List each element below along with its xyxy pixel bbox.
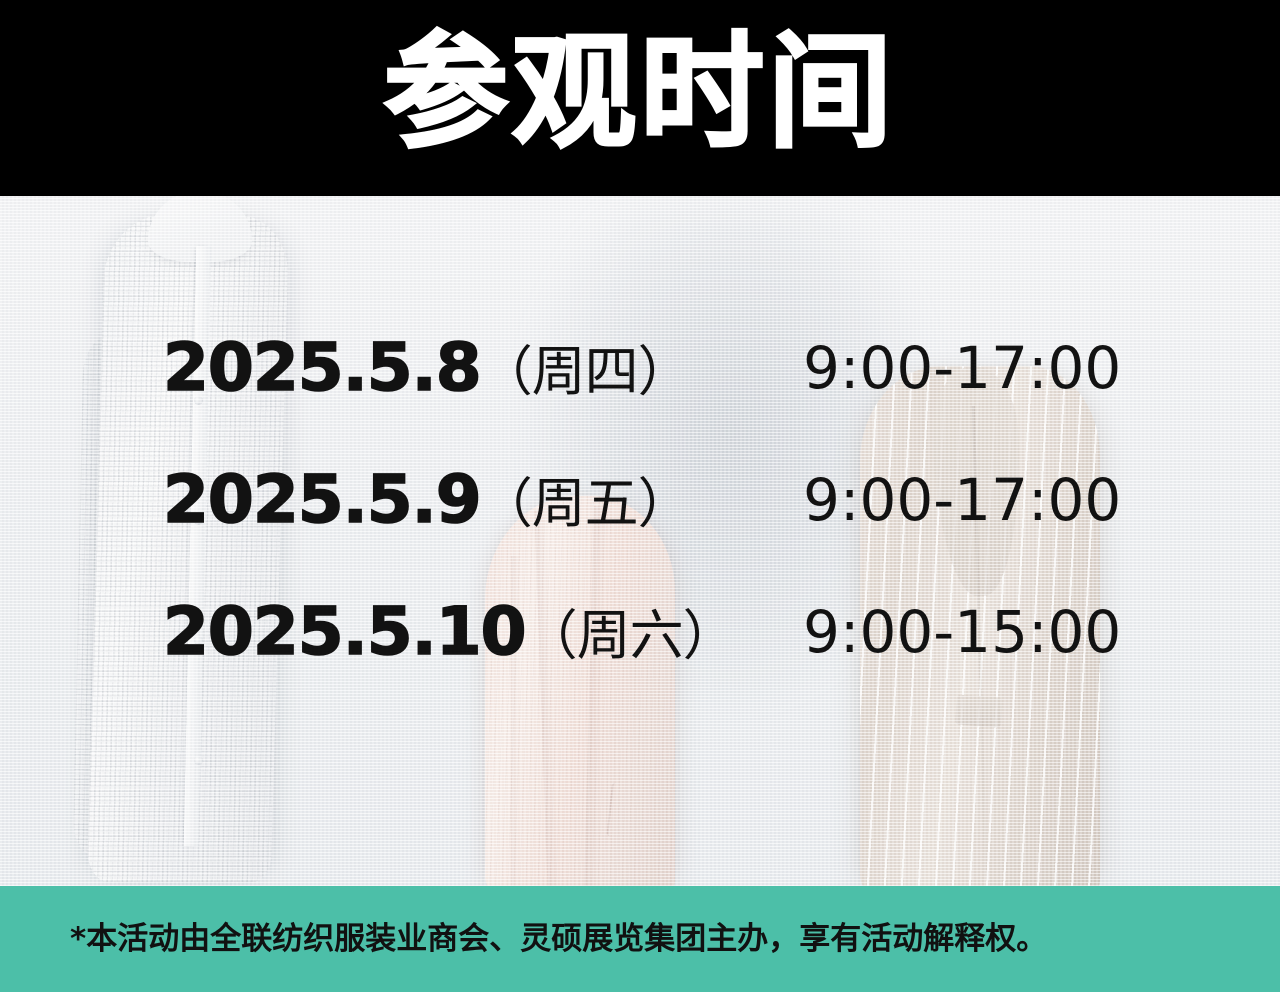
- schedule-row: 2025.5.8 （周四） 9:00-17:00: [0, 322, 1280, 414]
- page-title: 参观时间: [0, 18, 1280, 168]
- footer-disclaimer: *本活动由全联纺织服装业商会、灵硕展览集团主办，享有活动解释权。: [70, 924, 1047, 955]
- schedule-list: 2025.5.8 （周四） 9:00-17:00 2025.5.9 （周五） 9…: [0, 196, 1280, 886]
- schedule-date: 2025.5.8: [163, 335, 481, 401]
- schedule-weekday: （周五）: [479, 477, 691, 531]
- schedule-time: 9:00-17:00: [803, 339, 1121, 397]
- schedule-date-cell: 2025.5.9 （周五）: [163, 467, 691, 533]
- schedule-row: 2025.5.10 （周六） 9:00-15:00: [0, 586, 1280, 678]
- header-bar: 参观时间: [0, 0, 1280, 196]
- schedule-time: 9:00-15:00: [803, 603, 1121, 661]
- schedule-date-cell: 2025.5.8 （周四）: [163, 335, 691, 401]
- schedule-date: 2025.5.10: [163, 599, 526, 665]
- footer-bar: *本活动由全联纺织服装业商会、灵硕展览集团主办，享有活动解释权。: [0, 886, 1280, 992]
- schedule-date-cell: 2025.5.10 （周六）: [163, 599, 736, 665]
- schedule-date: 2025.5.9: [163, 467, 481, 533]
- schedule-weekday: （周六）: [524, 609, 736, 663]
- visiting-hours-poster: 参观时间: [0, 0, 1280, 992]
- schedule-weekday: （周四）: [479, 345, 691, 399]
- schedule-time: 9:00-17:00: [803, 471, 1121, 529]
- schedule-row: 2025.5.9 （周五） 9:00-17:00: [0, 454, 1280, 546]
